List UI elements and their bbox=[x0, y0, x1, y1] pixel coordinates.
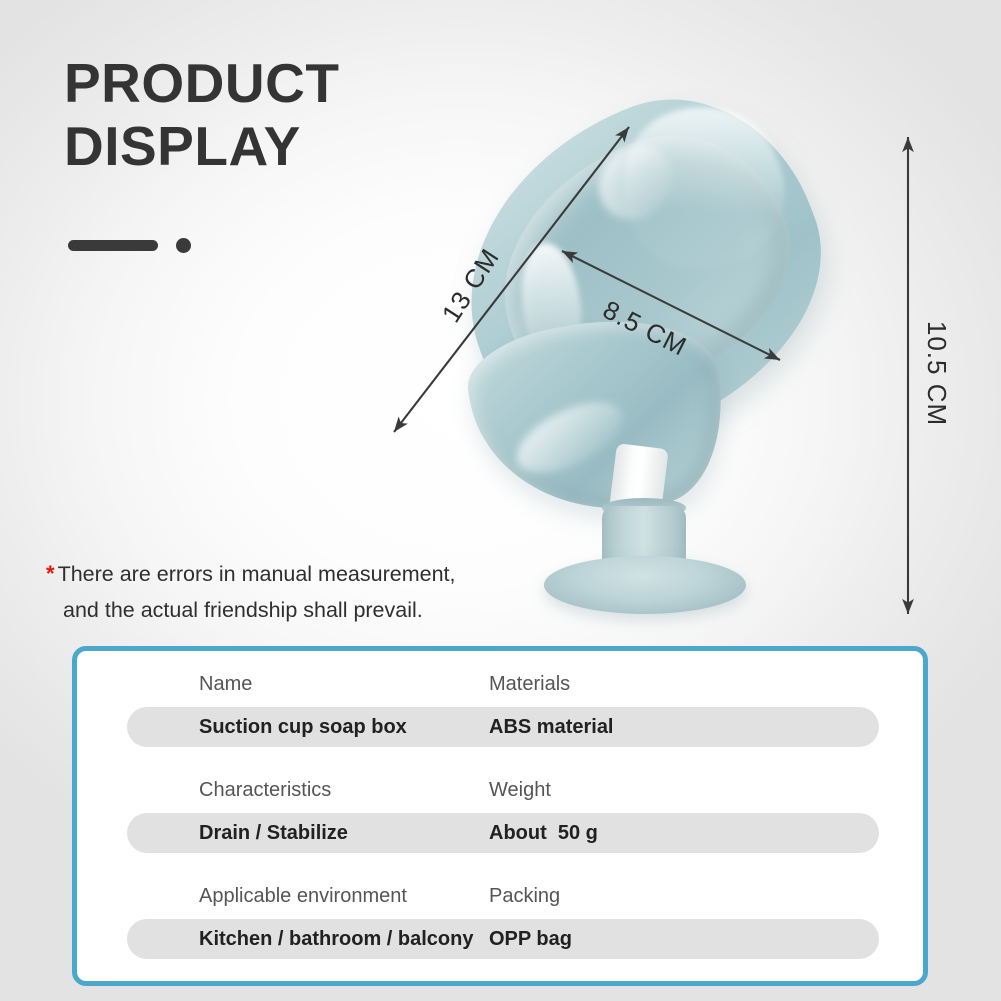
spec-header-packing: Packing bbox=[489, 885, 560, 908]
disclaimer-line-2: and the actual friendship shall prevail. bbox=[63, 592, 566, 628]
title-dot-decoration bbox=[176, 238, 191, 253]
spec-header-row: Characteristics Weight bbox=[77, 767, 923, 813]
spec-header-name: Name bbox=[199, 673, 489, 696]
spec-value-packing: OPP bag bbox=[489, 928, 572, 951]
dimension-label-height: 10.5 CM bbox=[921, 321, 952, 426]
spec-spacer-1 bbox=[77, 747, 923, 767]
title-dash-decoration bbox=[68, 240, 158, 251]
page-title-line-1: PRODUCT bbox=[64, 52, 534, 115]
spec-value-row: Kitchen / bathroom / balcony OPP bag bbox=[127, 919, 879, 959]
disclaimer-line-1: There are errors in manual measurement, bbox=[58, 562, 456, 586]
spec-group-characteristics-weight: Characteristics Weight Drain / Stabilize… bbox=[77, 767, 923, 853]
product-display-page: PRODUCT DISPLAY bbox=[0, 0, 1001, 1001]
spec-value-row: Drain / Stabilize About 50 g bbox=[127, 813, 879, 853]
spec-header-row: Applicable environment Packing bbox=[77, 873, 923, 919]
spec-value-environment: Kitchen / bathroom / balcony bbox=[199, 928, 489, 951]
spec-header-weight: Weight bbox=[489, 779, 551, 802]
spec-header-characteristics: Characteristics bbox=[199, 779, 489, 802]
spec-header-environment: Applicable environment bbox=[199, 885, 489, 908]
spec-group-name-materials: Name Materials Suction cup soap box ABS … bbox=[77, 661, 923, 747]
suction-cup-disc bbox=[544, 556, 746, 614]
spec-value-row: Suction cup soap box ABS material bbox=[127, 707, 879, 747]
spec-group-environment-packing: Applicable environment Packing Kitchen /… bbox=[77, 873, 923, 959]
spec-header-materials: Materials bbox=[489, 673, 570, 696]
spec-value-materials: ABS material bbox=[489, 716, 614, 739]
spec-spacer-top bbox=[77, 651, 923, 661]
spec-header-row: Name Materials bbox=[77, 661, 923, 707]
product-image bbox=[440, 110, 860, 630]
spec-value-name: Suction cup soap box bbox=[199, 716, 489, 739]
spec-value-characteristics: Drain / Stabilize bbox=[199, 822, 489, 845]
spec-spacer-2 bbox=[77, 853, 923, 873]
spec-value-weight: About 50 g bbox=[489, 822, 598, 845]
specification-table: Name Materials Suction cup soap box ABS … bbox=[72, 646, 928, 986]
measurement-disclaimer: *There are errors in manual measurement,… bbox=[46, 556, 566, 628]
disclaimer-asterisk: * bbox=[46, 561, 55, 586]
